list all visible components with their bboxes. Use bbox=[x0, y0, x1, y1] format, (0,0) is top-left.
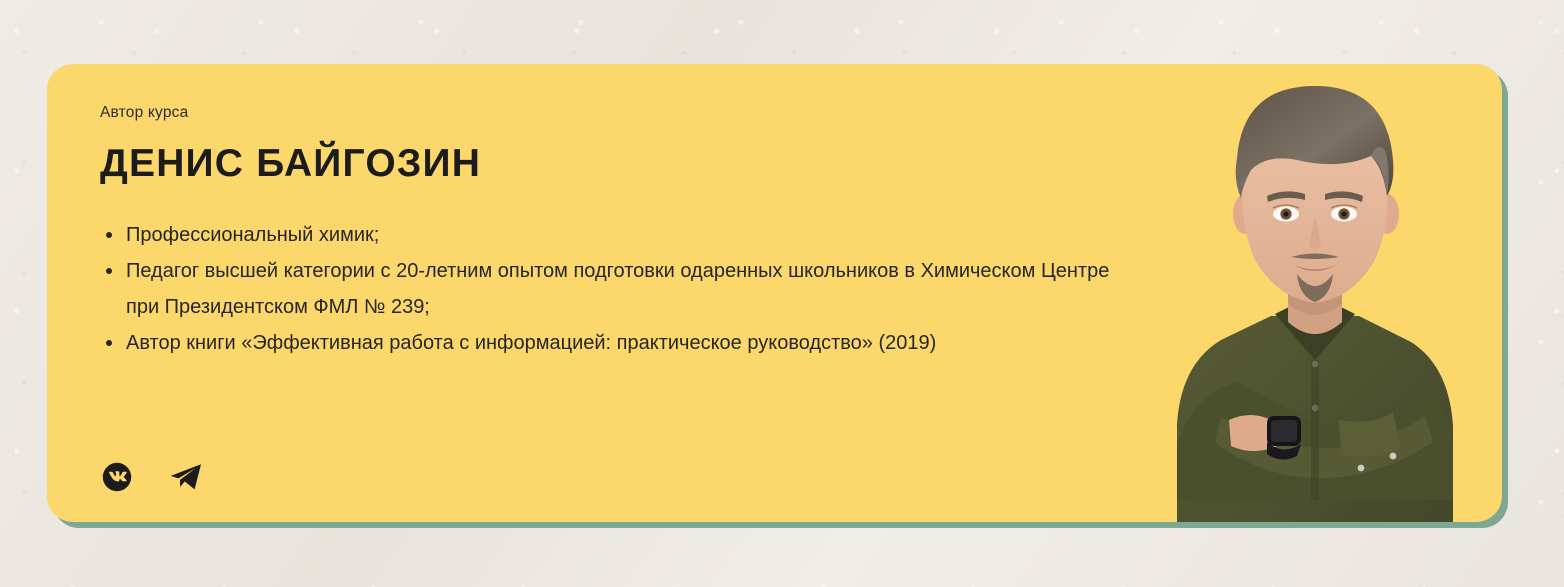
page-title: ДЕНИС БАЙГОЗИН bbox=[100, 144, 1110, 185]
eyebrow-label: Автор курса bbox=[100, 104, 1110, 122]
list-item: Профессиональный химик; bbox=[100, 217, 1110, 253]
telegram-icon bbox=[169, 479, 203, 496]
author-card: Автор курса ДЕНИС БАЙГОЗИН Профессиональ… bbox=[47, 64, 1502, 522]
vk-icon bbox=[102, 479, 132, 496]
card-surface: Автор курса ДЕНИС БАЙГОЗИН Профессиональ… bbox=[47, 64, 1502, 522]
social-links bbox=[102, 462, 203, 492]
credentials-list: Профессиональный химик; Педагог высшей к… bbox=[100, 217, 1110, 361]
social-link-vk[interactable] bbox=[102, 462, 132, 492]
list-item: Педагог высшей категории с 20-летним опы… bbox=[100, 253, 1110, 325]
card-content: Автор курса ДЕНИС БАЙГОЗИН Профессиональ… bbox=[100, 104, 1110, 361]
social-link-telegram[interactable] bbox=[169, 462, 203, 492]
list-item: Автор книги «Эффективная работа с информ… bbox=[100, 325, 1110, 361]
